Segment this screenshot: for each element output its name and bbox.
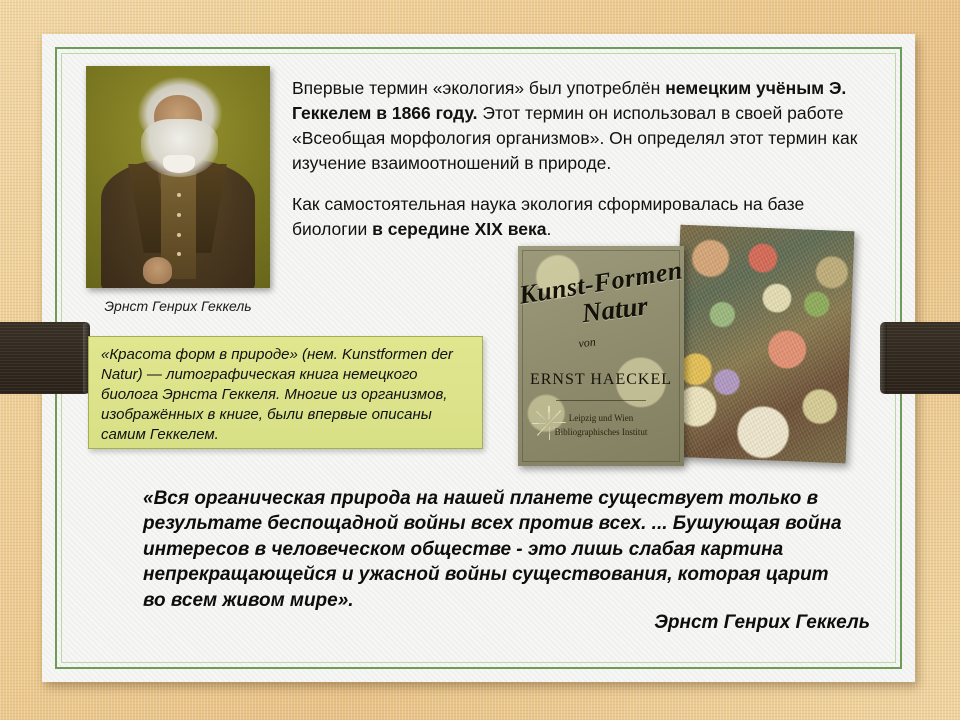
book-plate-image xyxy=(672,225,855,464)
callout-text: «Красота форм в природе» (нем. Kunstform… xyxy=(101,345,470,445)
ribbon-bar-right xyxy=(880,322,960,394)
book-cover-publisher-city: Leipzig und Wien xyxy=(518,412,684,426)
portrait-caption: Эрнст Генрих Геккель xyxy=(86,298,270,314)
intro-p2-suffix: . xyxy=(546,219,551,239)
haeckel-quote: «Вся органическая природа на нашей плане… xyxy=(143,486,848,613)
intro-p1-prefix: Впервые термин «экология» был употреблён xyxy=(292,78,665,98)
intro-p2-bold: в середине XIX века xyxy=(372,219,546,239)
portrait-image-ernst-haeckel xyxy=(86,66,270,288)
intro-paragraph-1: Впервые термин «экология» был употреблён… xyxy=(292,76,867,175)
book-cover-publisher-name: Bibliographisches Institut xyxy=(518,426,684,440)
book-cover-rule xyxy=(556,400,646,401)
ribbon-bar-left xyxy=(0,322,90,394)
haeckel-quote-author: Эрнст Генрих Геккель xyxy=(654,612,870,634)
callout-box: «Красота форм в природе» (нем. Kunstform… xyxy=(88,336,483,449)
portrait-block: Эрнст Генрих Геккель xyxy=(86,66,270,314)
book-cover-image: Kunst-Formen Natur von ERNST HAECKEL Lei… xyxy=(518,246,684,466)
book-cover-author: ERNST HAECKEL xyxy=(518,371,684,389)
